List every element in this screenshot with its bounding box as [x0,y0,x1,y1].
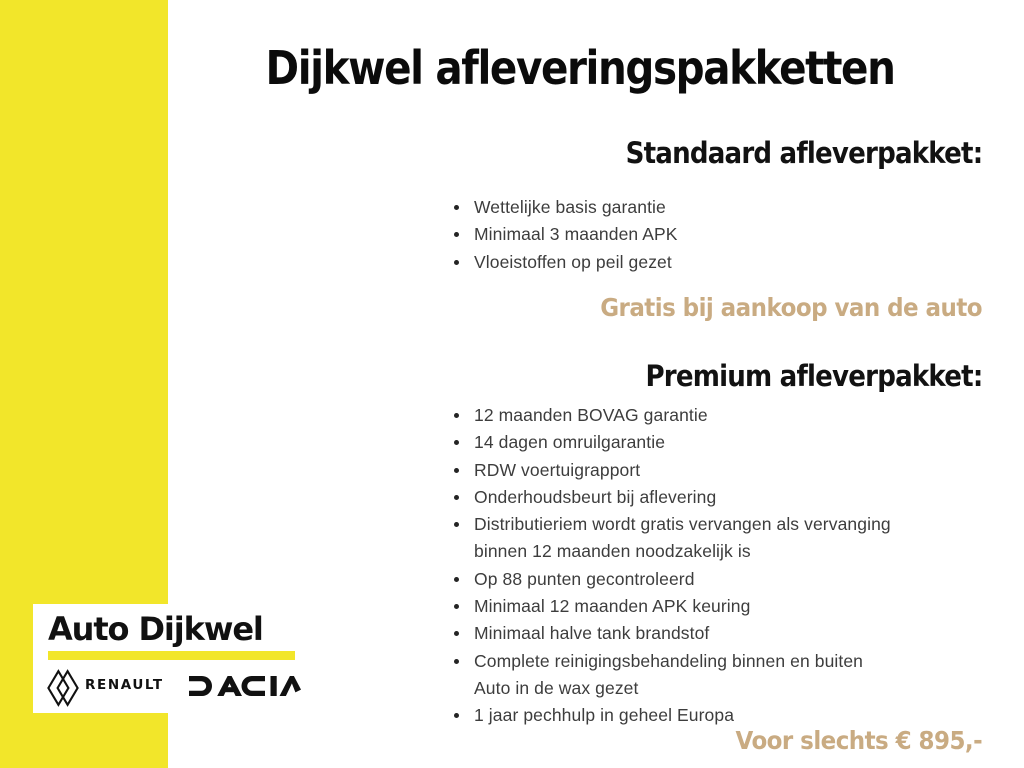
list-item: Complete reinigingsbehandeling binnen en… [446,648,992,703]
promo-standaard-price: Gratis bij aankoop van de auto [600,293,982,322]
list-item-label: Vloeistoffen op peil gezet [474,252,672,272]
promo-premium-price: Voor slechts € 895,- [735,726,982,755]
list-item-label-continued: Auto in de wax gezet [474,675,992,702]
list-item: Minimaal 3 maanden APK [446,221,992,248]
list-item-label: Minimaal halve tank brandstof [474,623,709,643]
list-item: Op 88 punten gecontroleerd [446,566,992,593]
list-item: Minimaal 12 maanden APK keuring [446,593,992,620]
list-item-label: 1 jaar pechhulp in geheel Europa [474,705,734,725]
list-item-label: 12 maanden BOVAG garantie [474,405,708,425]
logo-underline-bar [48,651,295,660]
list-item-label: Op 88 punten gecontroleerd [474,569,695,589]
dealer-logo-card: Auto Dijkwel RENAULT [33,604,314,713]
list-item-label: Minimaal 12 maanden APK keuring [474,596,750,616]
list-item-label: Distributieriem wordt gratis vervangen a… [474,514,891,534]
list-item-label: Onderhoudsbeurt bij aflevering [474,487,716,507]
list-item-label-continued: binnen 12 maanden noodzakelijk is [474,538,992,565]
list-item-label: Minimaal 3 maanden APK [474,224,678,244]
renault-diamond-icon [45,669,81,712]
dealer-name-wordmark: Auto Dijkwel [48,610,263,648]
list-item: 14 dagen omruilgarantie [446,429,992,456]
feature-list-premium: 12 maanden BOVAG garantie 14 dagen omrui… [446,402,992,730]
dacia-wordmark-icon [187,674,302,703]
page-title: Dijkwel afleveringspakketten [217,43,942,95]
feature-list-standaard: Wettelijke basis garantie Minimaal 3 maa… [446,194,992,276]
section-heading-premium: Premium afleverpakket: [645,359,982,393]
list-item: 12 maanden BOVAG garantie [446,402,992,429]
list-item: Wettelijke basis garantie [446,194,992,221]
section-heading-standaard: Standaard afleverpakket: [625,136,982,170]
list-item-label: RDW voertuigrapport [474,460,640,480]
list-item: Vloeistoffen op peil gezet [446,249,992,276]
renault-label: RENAULT [85,677,164,693]
brand-row: RENAULT [41,666,311,710]
list-item-label: Wettelijke basis garantie [474,197,666,217]
list-item-label: Complete reinigingsbehandeling binnen en… [474,651,863,671]
list-item: Minimaal halve tank brandstof [446,620,992,647]
list-item-label: 14 dagen omruilgarantie [474,432,665,452]
list-item: Distributieriem wordt gratis vervangen a… [446,511,992,566]
list-item: Onderhoudsbeurt bij aflevering [446,484,992,511]
list-item: RDW voertuigrapport [446,457,992,484]
